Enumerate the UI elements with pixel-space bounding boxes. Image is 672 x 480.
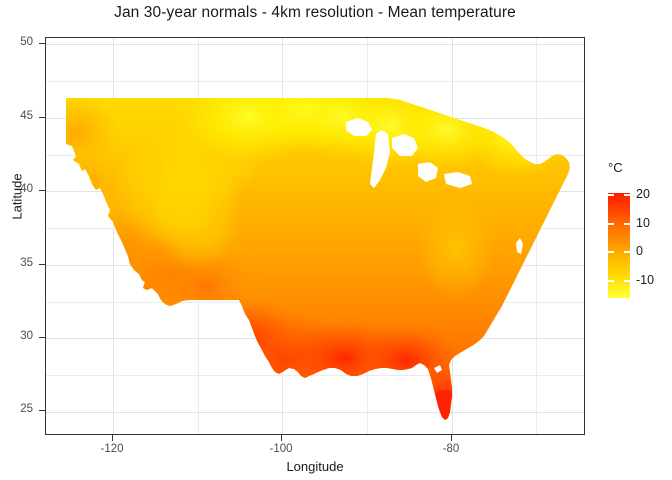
colorbar-tick: [608, 223, 614, 225]
x-axis-label: -100: [251, 443, 311, 455]
temperature-raster-map: [46, 38, 584, 434]
y-axis-title: Latitude: [10, 137, 25, 257]
colorbar-label: -10: [636, 273, 654, 287]
colorbar-tick: [608, 280, 614, 282]
x-tick: [112, 435, 113, 441]
y-tick: [39, 190, 45, 191]
figure-root: Jan 30-year normals - 4km resolution - M…: [0, 0, 672, 480]
y-axis-label: 45: [3, 110, 33, 122]
y-tick: [39, 264, 45, 265]
x-tick: [281, 435, 282, 441]
y-tick: [39, 410, 45, 411]
colorbar-title: °C: [608, 160, 623, 175]
y-axis-label: 35: [3, 257, 33, 269]
conus-temperature-raster: [46, 38, 585, 435]
plot-panel: [45, 37, 585, 435]
y-axis-label: 30: [3, 330, 33, 342]
chart-title: Jan 30-year normals - 4km resolution - M…: [45, 4, 585, 22]
colorbar-label: 10: [636, 216, 650, 230]
y-axis-label: 25: [3, 403, 33, 415]
colorbar-gradient: [608, 193, 630, 298]
x-axis-label: -80: [421, 443, 481, 455]
colorbar-label: 20: [636, 187, 650, 201]
colorbar-tick: [624, 280, 630, 282]
colorbar-tick: [624, 251, 630, 253]
y-tick: [39, 43, 45, 44]
colorbar-tick: [608, 194, 614, 196]
x-axis-title: Longitude: [45, 459, 585, 474]
y-tick: [39, 337, 45, 338]
colorbar-legend: °C 20 10 0 -10: [600, 160, 672, 320]
colorbar-label: 0: [636, 244, 643, 258]
colorbar-tick: [624, 223, 630, 225]
y-axis-label: 50: [3, 36, 33, 48]
x-axis-label: -120: [82, 443, 142, 455]
colorbar-tick: [624, 194, 630, 196]
x-tick: [451, 435, 452, 441]
y-tick: [39, 117, 45, 118]
raster-body: [46, 38, 585, 435]
colorbar-tick: [608, 251, 614, 253]
